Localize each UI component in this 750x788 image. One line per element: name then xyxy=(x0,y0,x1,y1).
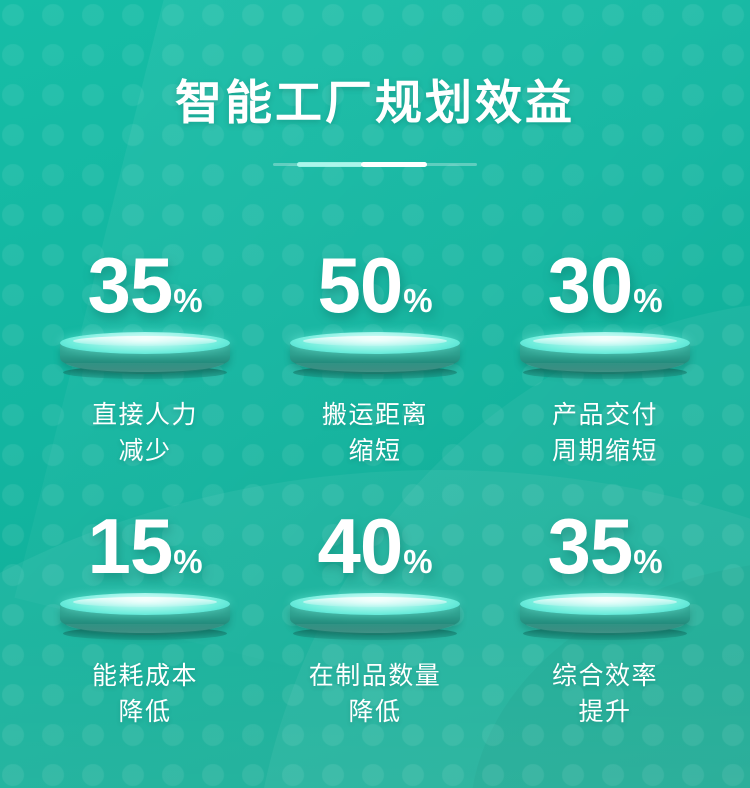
podium-icon xyxy=(520,593,690,643)
stat-value: 35 % xyxy=(87,222,202,322)
percent-sign-icon: % xyxy=(403,284,432,322)
stat-card-overall-efficiency: 35 % 综合效率 提升 xyxy=(490,483,720,735)
percent-sign-icon: % xyxy=(173,545,202,583)
page-title: 智能工厂规划效益 xyxy=(0,78,750,127)
podium-top-disc xyxy=(290,593,460,615)
podium-top-disc xyxy=(60,332,230,354)
podium-top-disc xyxy=(520,593,690,615)
stat-card-direct-labor: 35 % 直接人力 减少 xyxy=(30,222,260,474)
podium-icon xyxy=(60,593,230,643)
podium-top-disc xyxy=(60,593,230,615)
stats-grid: 35 % 直接人力 减少 50 % xyxy=(30,222,720,735)
stat-label: 能耗成本 降低 xyxy=(92,659,198,730)
podium-icon xyxy=(60,332,230,382)
percent-sign-icon: % xyxy=(403,545,432,583)
stat-number: 35 xyxy=(87,250,172,322)
title-divider xyxy=(273,163,477,166)
stat-label-line: 直接人力 xyxy=(92,398,198,434)
percent-sign-icon: % xyxy=(633,284,662,322)
stat-label-line: 在制品数量 xyxy=(309,659,442,695)
podium-top-disc xyxy=(290,332,460,354)
stat-label-line: 能耗成本 xyxy=(92,659,198,695)
stat-label-line: 搬运距离 xyxy=(322,398,428,434)
stat-label-line: 缩短 xyxy=(322,434,428,470)
stat-number: 30 xyxy=(547,250,632,322)
stat-number: 15 xyxy=(87,511,172,583)
stat-card-wip-quantity: 40 % 在制品数量 降低 xyxy=(260,483,490,735)
stat-number: 35 xyxy=(547,511,632,583)
poster-content: 智能工厂规划效益 35 % 直接人力 减少 xyxy=(0,0,750,788)
stat-value: 50 % xyxy=(317,222,432,322)
stat-label: 直接人力 减少 xyxy=(92,398,198,469)
stat-label-line: 降低 xyxy=(309,695,442,731)
stat-label-line: 降低 xyxy=(92,695,198,731)
podium-icon xyxy=(290,593,460,643)
infographic-poster: 智能工厂规划效益 35 % 直接人力 减少 xyxy=(0,0,750,788)
stat-number: 50 xyxy=(317,250,402,322)
divider-accent-segment xyxy=(297,162,363,167)
percent-sign-icon: % xyxy=(633,545,662,583)
stat-card-delivery-cycle: 30 % 产品交付 周期缩短 xyxy=(490,222,720,474)
divider-highlight-segment xyxy=(361,162,427,167)
stat-label: 产品交付 周期缩短 xyxy=(552,398,658,469)
stat-label-line: 提升 xyxy=(552,695,658,731)
stat-value: 40 % xyxy=(317,483,432,583)
stat-label: 在制品数量 降低 xyxy=(309,659,442,730)
stat-value: 15 % xyxy=(87,483,202,583)
stat-label-line: 产品交付 xyxy=(552,398,658,434)
stat-card-energy-cost: 15 % 能耗成本 降低 xyxy=(30,483,260,735)
stat-card-transport-distance: 50 % 搬运距离 缩短 xyxy=(260,222,490,474)
podium-top-disc xyxy=(520,332,690,354)
stat-number: 40 xyxy=(317,511,402,583)
podium-icon xyxy=(520,332,690,382)
stat-value: 30 % xyxy=(547,222,662,322)
stat-value: 35 % xyxy=(547,483,662,583)
stat-label-line: 周期缩短 xyxy=(552,434,658,470)
stat-label: 综合效率 提升 xyxy=(552,659,658,730)
stat-label-line: 减少 xyxy=(92,434,198,470)
stat-label: 搬运距离 缩短 xyxy=(322,398,428,469)
stat-label-line: 综合效率 xyxy=(552,659,658,695)
percent-sign-icon: % xyxy=(173,284,202,322)
podium-icon xyxy=(290,332,460,382)
